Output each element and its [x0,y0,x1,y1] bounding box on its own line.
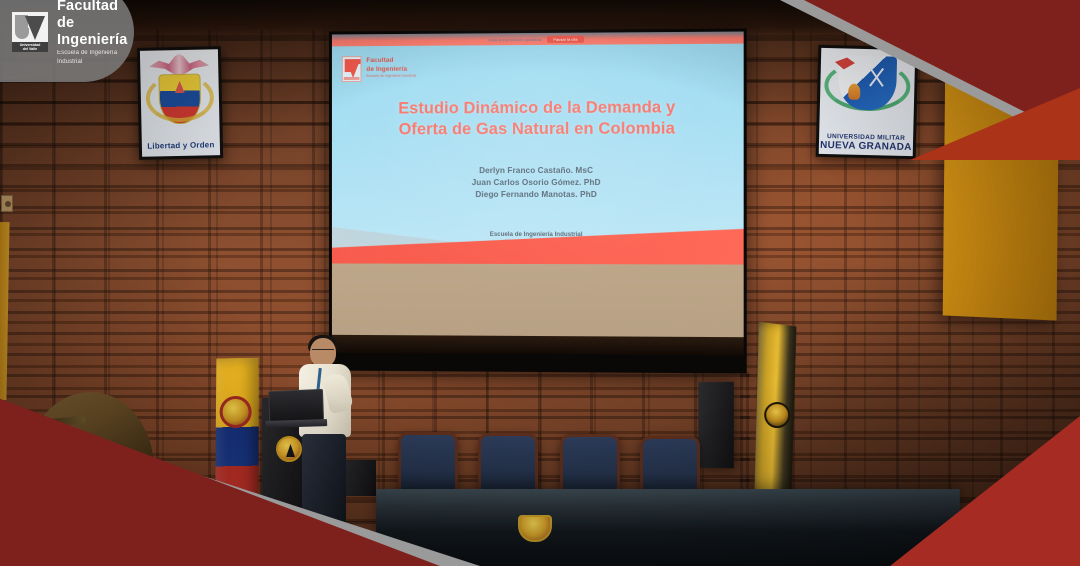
faculty-logo-mark [342,56,362,82]
laptop-lid [268,389,324,422]
slide-title: Estudio Dinámico de la Demanda y Oferta … [332,97,744,140]
wall-outlet [1,195,13,212]
colombia-coat-of-arms-frame: Libertad y Orden [137,46,223,160]
slide-notification-text: Esta presentación grabada [489,36,542,41]
head-table [376,489,961,566]
colombia-coat-of-arms-icon: Libertad y Orden [140,49,220,157]
acoustic-panel-right [943,69,1059,321]
speaker-cabinet [698,382,733,468]
umng-emblem-frame: UNIVERSIDAD MILITAR NUEVA GRANADA [816,45,919,159]
slide-author-1: Derlyn Franco Castaño. MsC [332,164,744,177]
faculty-logo-line1: Facultad [366,57,416,65]
red-banner-icon [835,57,855,69]
faculty-logo-line2: de Ingeniería [366,65,416,73]
laptop-base [265,419,327,428]
screen-bottom-bar [332,335,744,356]
projection-screen: Esta presentación grabada Pausar la cita… [329,28,747,373]
presenter [296,338,354,538]
presentation-slide: Esta presentación grabada Pausar la cita… [332,32,744,265]
laptop [268,389,324,431]
slide-notification-bar: Esta presentación grabada Pausar la cita [332,32,744,47]
slide-title-line2: Oferta de Gas Natural en Colombia [332,118,744,140]
coat-of-arms-caption: Libertad y Orden [142,140,220,151]
presenter-pants [302,434,346,538]
brand-badge-words: Facultad de Ingeniería Escuela de Ingeni… [57,0,134,67]
logo-caption: Universidad del Valle [12,43,48,51]
universidad-del-valle-logo: Universidad del Valle [12,12,48,52]
slide-notification-button[interactable]: Pausar la cita [547,35,583,42]
wreath-icon [145,73,214,122]
brand-badge-line1: Facultad [57,0,134,15]
brand-badge-line2: de Ingeniería [57,15,134,49]
crossed-swords-icon [865,66,888,89]
umng-emblem-icon: UNIVERSIDAD MILITAR NUEVA GRANADA [819,48,916,156]
umng-caption-line2: NUEVA GRANADA [819,140,913,153]
faculty-logo-words: Facultad de Ingeniería Escuela de Ingeni… [366,56,416,79]
torch-icon [848,84,860,100]
colombia-flag [213,358,262,509]
table-crest-icon [518,515,552,542]
slide-author-2: Juan Carlos Osorio Gómez. PhD [332,177,744,189]
brand-badge-overlay: Universidad del Valle Facultad de Ingeni… [0,0,134,82]
faculty-logo-mark-caption [344,77,360,80]
screen-surface: Esta presentación grabada Pausar la cita… [332,32,744,356]
brand-badge-line3: Escuela de Ingeniería Industrial [57,49,134,67]
slide-author-3: Diego Fernando Manotas. PhD [332,189,744,201]
faculty-logo-line3: Escuela de Ingeniería Industrial [366,74,416,79]
logo-caption-line2: del Valle [23,47,37,51]
glasses-icon [312,349,334,354]
logo-arc-icon [15,28,29,39]
slide-faculty-logo: Facultad de Ingeniería Escuela de Ingeni… [342,56,416,82]
chair [560,434,620,496]
slide-authors: Derlyn Franco Castaño. MsC Juan Carlos O… [332,164,744,200]
audience-member-front [24,392,154,566]
chair [478,433,538,495]
slide-title-line1: Estudio Dinámico de la Demanda y [332,97,744,120]
chair [398,432,458,494]
auditorium-photo: Esta presentación grabada Pausar la cita… [0,0,1080,566]
colombia-flag-cloth [213,358,262,509]
